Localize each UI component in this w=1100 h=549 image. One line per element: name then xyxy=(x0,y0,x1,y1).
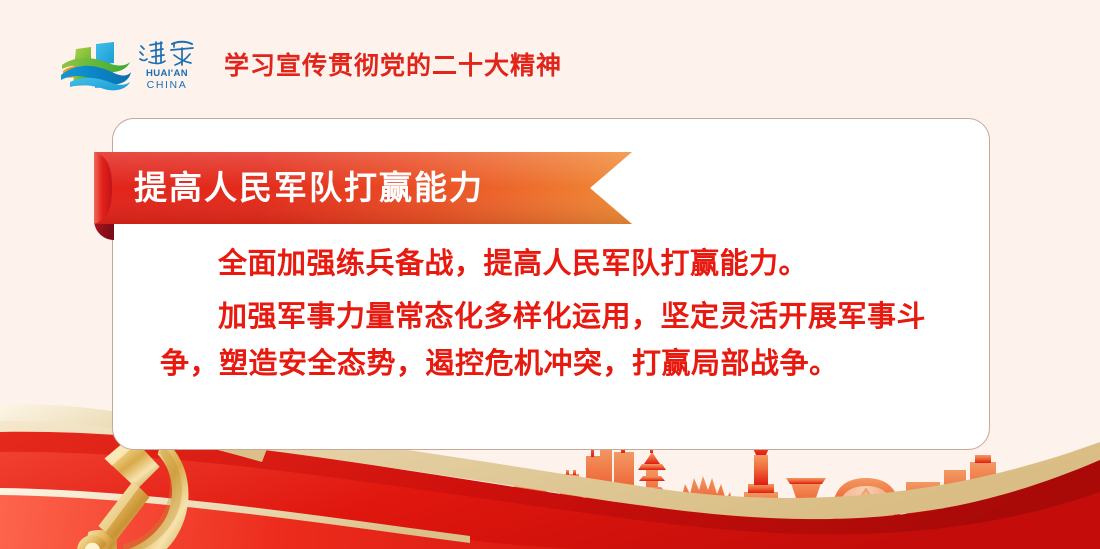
logo-wordmark: HUAI'AN CHINA xyxy=(136,35,198,93)
paragraph-1: 全面加强练兵备战，提高人民军队打赢能力。 xyxy=(160,240,960,287)
paragraph-2: 加强军事力量常态化多样化运用，坚定灵活开展军事斗争，塑造安全态势，遏控危机冲突，… xyxy=(160,293,960,387)
poster-root: HUAI'AN CHINA 学习宣传贯彻党的二十大精神 xyxy=(0,0,1100,549)
header: HUAI'AN CHINA 学习宣传贯彻党的二十大精神 xyxy=(60,33,562,95)
header-slogan: 学习宣传贯彻党的二十大精神 xyxy=(224,46,562,82)
ribbon-title: 提高人民军队打赢能力 xyxy=(134,150,554,220)
body-text: 全面加强练兵备战，提高人民军队打赢能力。 加强军事力量常态化多样化运用，坚定灵活… xyxy=(160,240,960,387)
huaian-city-logo-icon xyxy=(60,35,132,93)
huaian-calligraphy-icon xyxy=(138,38,196,68)
logo-country: CHINA xyxy=(147,79,188,91)
logo-pinyin: HUAI'AN xyxy=(146,68,188,79)
